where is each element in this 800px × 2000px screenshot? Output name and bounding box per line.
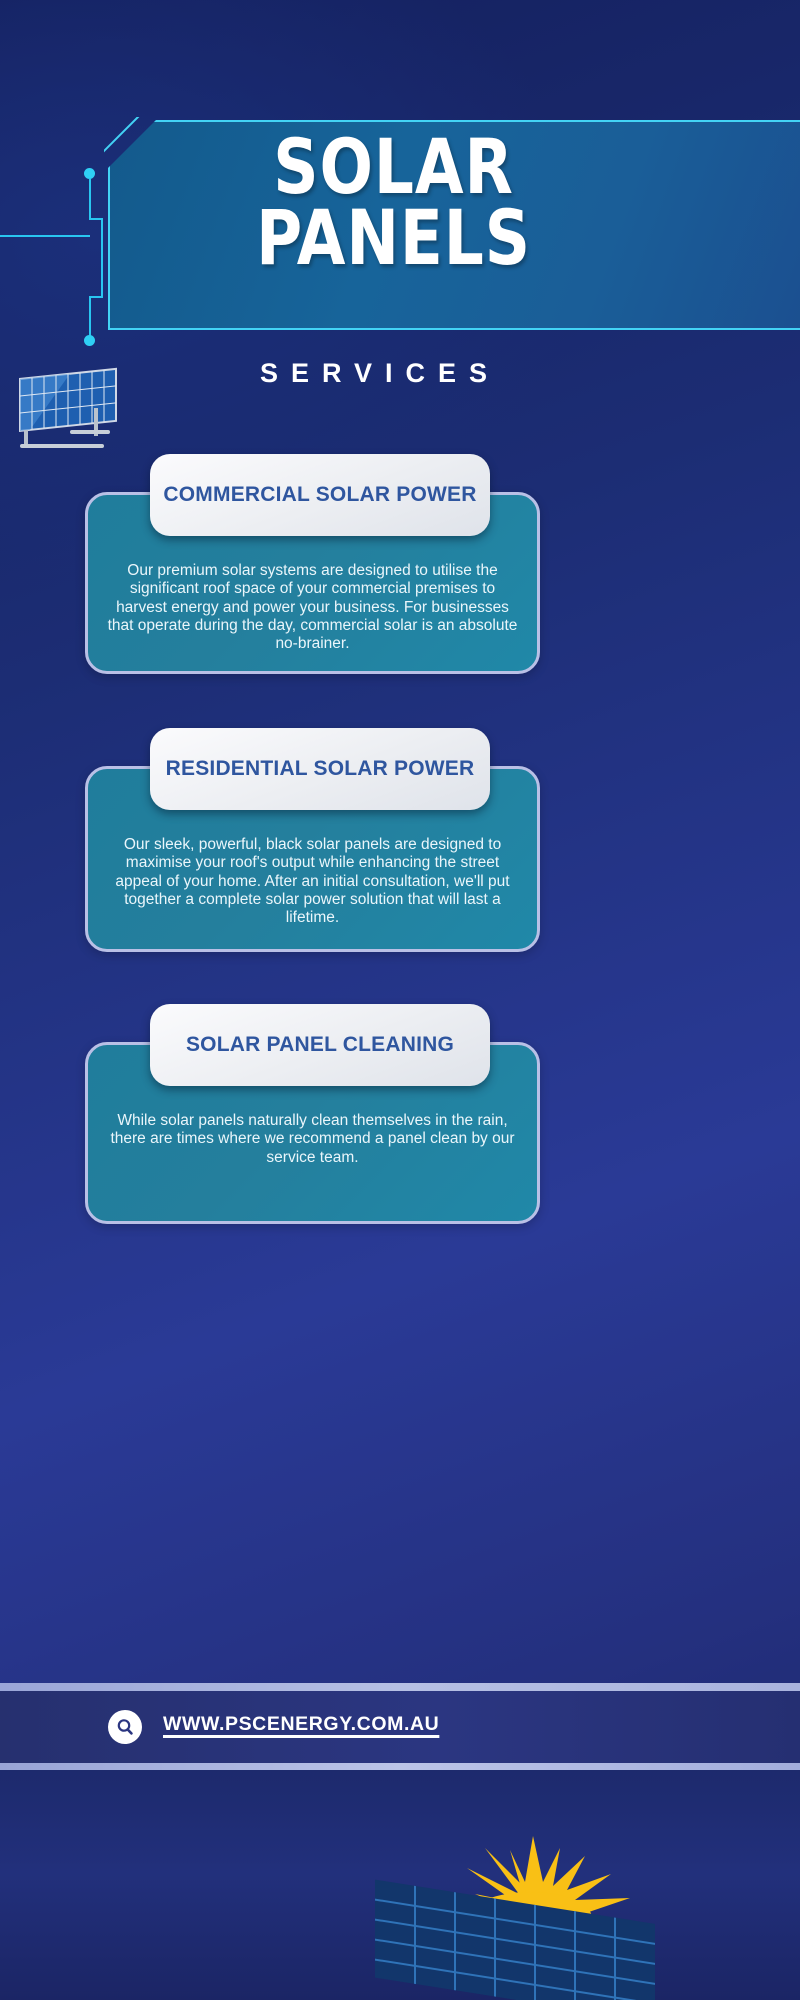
solar-panel-grid-graphic bbox=[365, 1878, 665, 2000]
search-glyph bbox=[114, 1716, 136, 1738]
infographic-page: SOLAR PANELS SERVICES COMMERCIAL SOLAR P… bbox=[0, 0, 800, 2000]
service-card-title-pill: COMMERCIAL SOLAR POWER bbox=[150, 454, 490, 536]
service-card-text: While solar panels naturally clean thems… bbox=[103, 1112, 522, 1167]
website-url-link[interactable]: WWW.PSCENERGY.COM.AU bbox=[163, 1713, 439, 1736]
services-subtitle: SERVICES bbox=[170, 358, 590, 389]
service-card-title-pill: RESIDENTIAL SOLAR POWER bbox=[150, 728, 490, 810]
page-title: SOLAR PANELS bbox=[136, 132, 780, 273]
service-card-title: COMMERCIAL SOLAR POWER bbox=[163, 483, 476, 508]
service-card-title-pill: SOLAR PANEL CLEANING bbox=[150, 1004, 490, 1086]
circuit-dot-bottom bbox=[84, 335, 95, 346]
search-icon[interactable] bbox=[108, 1710, 142, 1744]
service-card-title: SOLAR PANEL CLEANING bbox=[186, 1033, 454, 1058]
title-line-2: PANELS bbox=[136, 203, 651, 274]
service-card-title: RESIDENTIAL SOLAR POWER bbox=[166, 757, 475, 782]
circuit-segment-3 bbox=[101, 218, 103, 298]
circuit-segment-5 bbox=[89, 296, 91, 340]
circuit-segment-4 bbox=[89, 296, 103, 298]
footer-divider-bottom bbox=[0, 1763, 800, 1770]
solar-panel-illustration bbox=[10, 358, 130, 453]
circuit-segment-1 bbox=[89, 178, 91, 220]
footer-divider-top bbox=[0, 1683, 800, 1691]
service-card-text: Our sleek, powerful, black solar panels … bbox=[103, 836, 522, 927]
circuit-segment-left bbox=[0, 235, 90, 237]
service-card-text: Our premium solar systems are designed t… bbox=[103, 562, 522, 653]
